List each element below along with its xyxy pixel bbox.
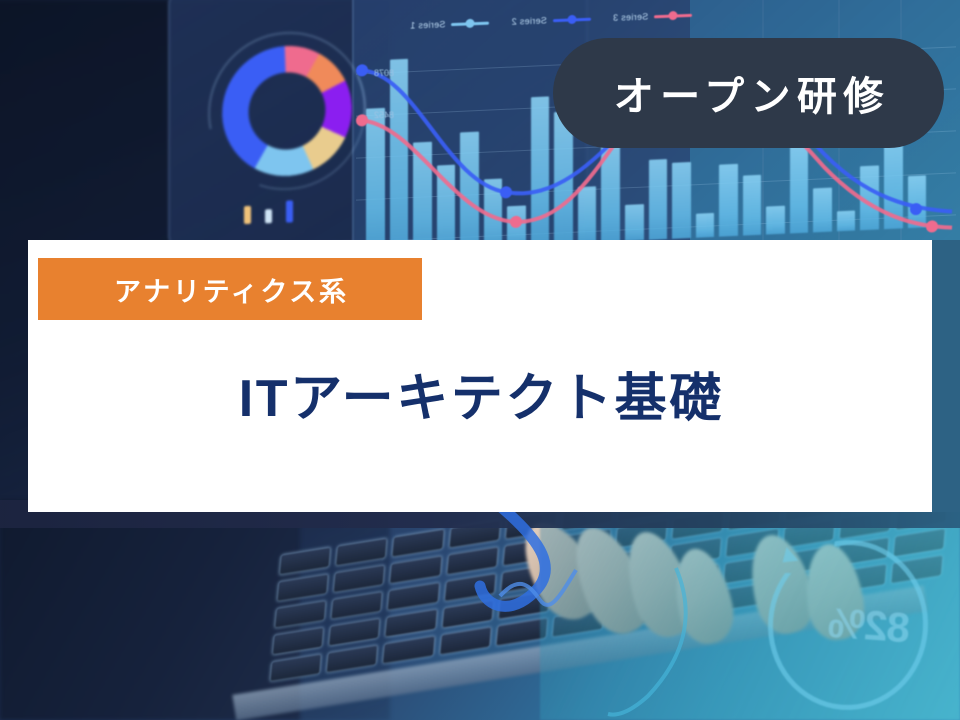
background-swoosh-graphic xyxy=(380,500,700,720)
mini-bar xyxy=(286,200,293,222)
legend-swatch xyxy=(654,13,692,17)
background-mini-widgets xyxy=(244,194,364,224)
category-tag-label: アナリティクス系 xyxy=(111,270,348,309)
category-tag: アナリティクス系 xyxy=(38,258,422,320)
legend-item: Series 3 xyxy=(613,10,692,23)
legend-swatch xyxy=(553,17,591,21)
background-progress-ring: 82% xyxy=(762,535,933,716)
progress-ring-arrow-icon xyxy=(777,547,799,569)
axis-tick-label: 8452 xyxy=(374,110,394,120)
legend-label: Series 3 xyxy=(613,12,648,23)
legend-item: Series 2 xyxy=(511,14,590,27)
background-donut-chart xyxy=(220,42,354,181)
legend-swatch xyxy=(451,21,489,25)
course-title: ITアーキテクト基礎 xyxy=(28,356,932,431)
banner-root: Series 1 Series 2 Series 3 8078 8452 xyxy=(0,0,960,720)
mini-bar xyxy=(265,209,272,223)
open-training-badge: オープン研修 xyxy=(553,38,944,148)
course-card: アナリティクス系 ITアーキテクト基礎 xyxy=(28,240,932,512)
mini-bar xyxy=(244,206,251,224)
progress-ring-value: 82% xyxy=(827,599,911,653)
legend-label: Series 2 xyxy=(511,15,546,26)
axis-tick-label: 8078 xyxy=(374,68,394,78)
open-training-badge-label: オープン研修 xyxy=(607,64,889,122)
legend-item: Series 1 xyxy=(410,18,489,31)
background-right-band xyxy=(932,240,960,512)
legend-label: Series 1 xyxy=(410,19,445,30)
